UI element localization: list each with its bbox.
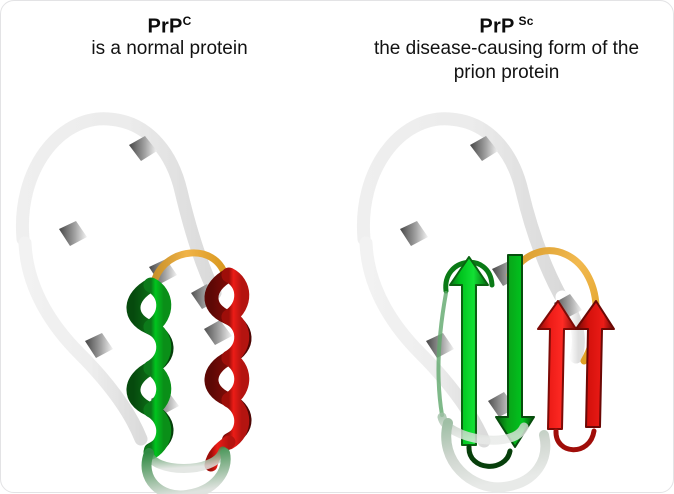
panel-prp-sc: PrPSc the disease-causing form of the pr… [338, 1, 674, 494]
panel-prp-c: PrPC is a normal protein [1, 1, 338, 494]
panel-left-title: PrPC [1, 9, 338, 39]
title-superscript: C [183, 14, 192, 28]
subtitle-line-1: the disease-causing form of the [354, 37, 659, 61]
panel-right-subtitle: the disease-causing form of the prion pr… [338, 37, 674, 85]
title-main: PrP [479, 16, 514, 38]
panel-left-subtitle: is a normal protein [1, 37, 338, 61]
structure-prp-c [1, 79, 338, 494]
c-terminal-tail-right [442, 417, 545, 487]
title-superscript: Sc [519, 14, 534, 28]
title-text: PrPC [148, 9, 192, 39]
structure-prp-sc [338, 79, 674, 494]
title-text: PrPSc [479, 9, 533, 39]
panel-right-title: PrPSc [338, 9, 674, 39]
alpha-helix-red-left [211, 275, 245, 465]
title-main: PrP [148, 16, 183, 38]
c-terminal-tail-left [147, 451, 226, 494]
figure-card: PrPC is a normal protein [0, 0, 674, 493]
